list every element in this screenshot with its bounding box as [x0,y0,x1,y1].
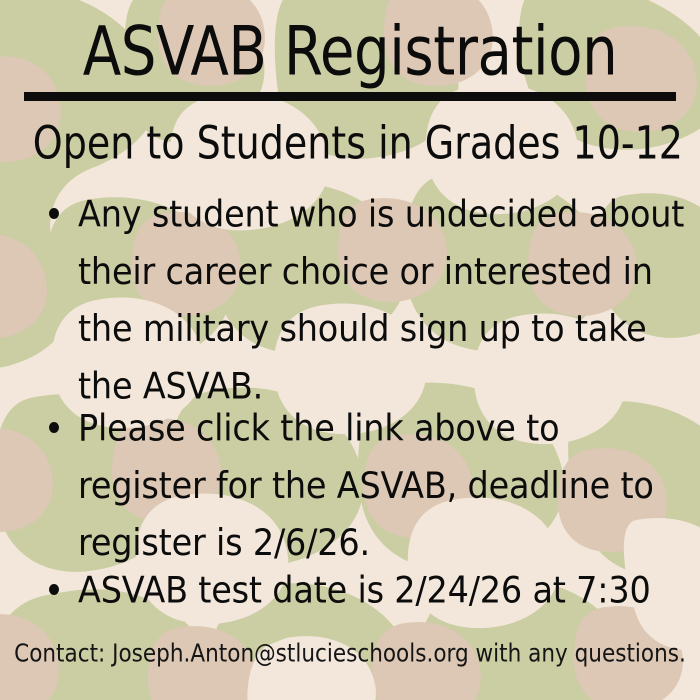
list-item: ASVAB test date is 2/24/26 at 7:30 [40,562,688,619]
asvab-registration-poster: ASVAB Registration Open to Students in G… [0,0,700,700]
bullet-dot-icon [49,422,59,433]
bullet-list: Any student who is undecided about their… [40,186,688,620]
bullet-dot-icon [49,208,59,219]
list-item-text: Please click the link above to register … [78,400,688,572]
list-item-text: ASVAB test date is 2/24/26 at 7:30 [78,562,688,619]
poster-content: ASVAB Registration Open to Students in G… [0,0,700,700]
poster-subtitle: Open to Students in Grades 10-12 [33,114,671,173]
bullet-dot-icon [49,584,59,595]
page-title: ASVAB Registration [11,6,690,96]
list-item: Any student who is undecided about their… [40,186,688,415]
list-item: Please click the link above to register … [40,400,688,572]
contact-line: Contact: Joseph.Anton@stlucieschools.org… [7,638,693,672]
title-divider-rule [24,92,676,101]
list-item-text: Any student who is undecided about their… [78,186,688,415]
